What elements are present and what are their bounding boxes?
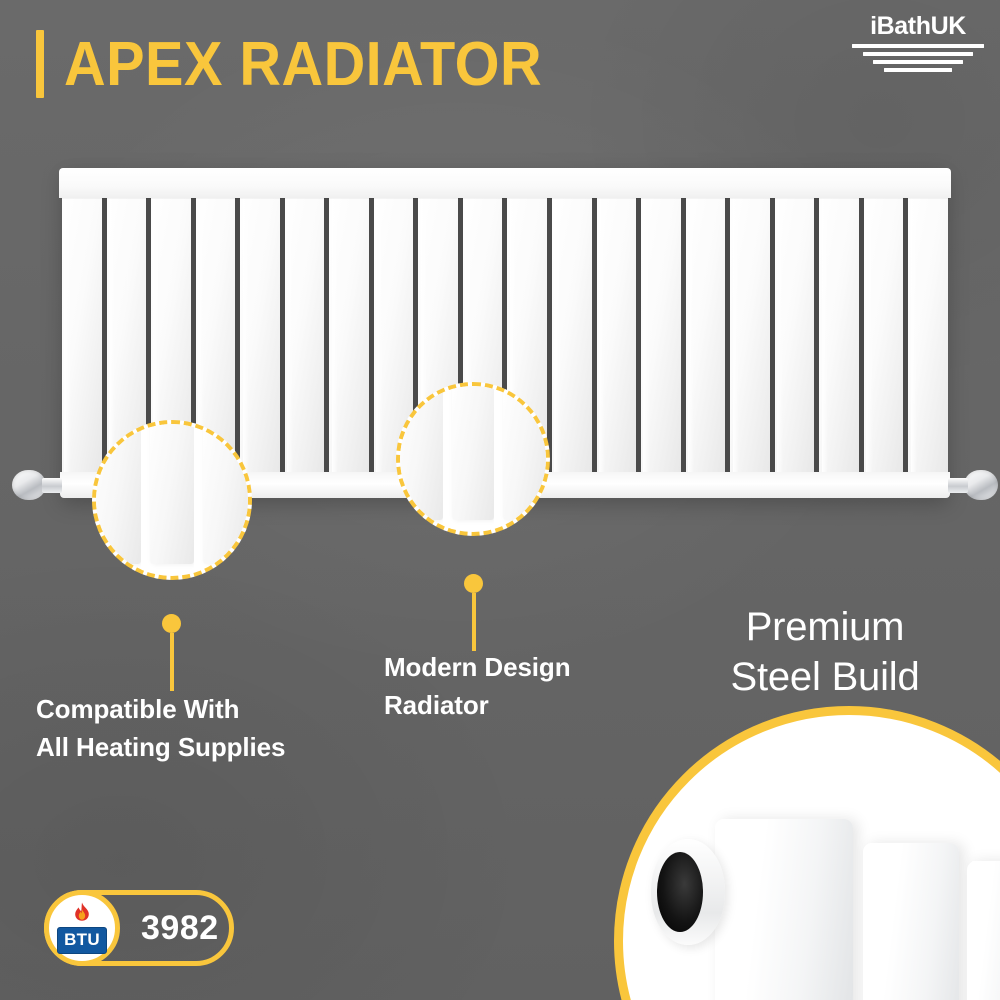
callout-pin-2 (464, 574, 483, 651)
callout-1-line-2: All Heating Supplies (36, 728, 285, 766)
radiator-fin (686, 168, 726, 498)
radiator-fin (775, 168, 815, 498)
magnifier-compatible-valves (92, 420, 252, 580)
pin-dot-icon (464, 574, 483, 593)
radiator-fin (819, 168, 859, 498)
pin-line (472, 593, 476, 651)
radiator-fin (329, 168, 369, 498)
callout-2-line-2: Radiator (384, 686, 571, 724)
detail-scene (623, 715, 1000, 1000)
radiator-fin-gap (592, 168, 597, 498)
right-valve (946, 466, 998, 506)
page-title: APEX RADIATOR (64, 27, 542, 103)
magnified-fin (503, 382, 546, 520)
page-title-group: APEX RADIATOR (36, 27, 578, 103)
brand-bar-1 (852, 44, 984, 48)
right-valve-stem (948, 478, 968, 493)
pin-line (170, 633, 174, 691)
callout-pin-1 (162, 614, 181, 691)
magnified-fin (96, 420, 141, 564)
magnified-gap (194, 424, 203, 576)
callout-3-line-1: Premium (660, 602, 990, 652)
radiator-fin (730, 168, 770, 498)
detail-fin-highlight (871, 843, 892, 1000)
radiator-fin (552, 168, 592, 498)
callout-compatible-with: Compatible With All Heating Supplies (36, 690, 285, 766)
btu-label: BTU (57, 927, 107, 954)
magnified-gap (141, 424, 150, 576)
detail-fin (715, 819, 853, 1000)
callout-2-line-1: Modern Design (384, 648, 571, 686)
radiator-fin (597, 168, 637, 498)
steel-build-detail-photo (614, 706, 1000, 1000)
detail-fin-highlight (972, 861, 985, 1000)
magnified-gap (494, 386, 503, 532)
radiator-fin-gap (280, 168, 285, 498)
radiator-fin (285, 168, 325, 498)
left-valve-stem (42, 478, 62, 493)
radiator-fin (864, 168, 904, 498)
brand-logo: iBathUK (852, 12, 984, 72)
radiator-top-rail (59, 168, 951, 198)
right-valve-knob (964, 470, 998, 500)
magnified-fin (400, 382, 443, 520)
magnifier-content (400, 386, 546, 532)
detail-inlet-port (651, 839, 725, 945)
detail-fin-highlight (726, 819, 756, 1000)
brand-bar-3 (873, 60, 963, 64)
callout-modern-design: Modern Design Radiator (384, 648, 571, 724)
title-accent-bar (36, 30, 44, 98)
detail-fin (967, 861, 1000, 1000)
brand-bar-4 (884, 68, 953, 72)
infographic-canvas: APEX RADIATOR iBathUK (0, 0, 1000, 1000)
flame-icon (71, 902, 93, 926)
radiator-fin-gap (681, 168, 686, 498)
radiator-fin (908, 168, 948, 498)
radiator-fin (641, 168, 681, 498)
brand-bar-2 (863, 52, 974, 56)
callout-3-line-2: Steel Build (660, 652, 990, 702)
magnified-fin (452, 382, 495, 520)
pin-dot-icon (162, 614, 181, 633)
magnified-fin (150, 420, 195, 564)
left-valve (12, 466, 64, 506)
brand-logo-bars-icon (852, 44, 984, 72)
callout-1-line-1: Compatible With (36, 690, 285, 728)
brand-name: iBathUK (870, 12, 966, 40)
detail-inlet-port-hole (657, 852, 703, 932)
callout-premium-steel-build: Premium Steel Build (660, 602, 990, 702)
magnified-gap (443, 386, 452, 532)
left-valve-knob (12, 470, 46, 500)
magnifier-content (96, 424, 248, 576)
btu-value: 3982 (141, 909, 219, 948)
btu-badge: BTU 3982 (44, 890, 234, 966)
magnifier-modern-design (396, 382, 550, 536)
btu-mark: BTU (44, 890, 120, 966)
detail-fin (863, 843, 959, 1000)
magnified-fin (203, 420, 248, 564)
